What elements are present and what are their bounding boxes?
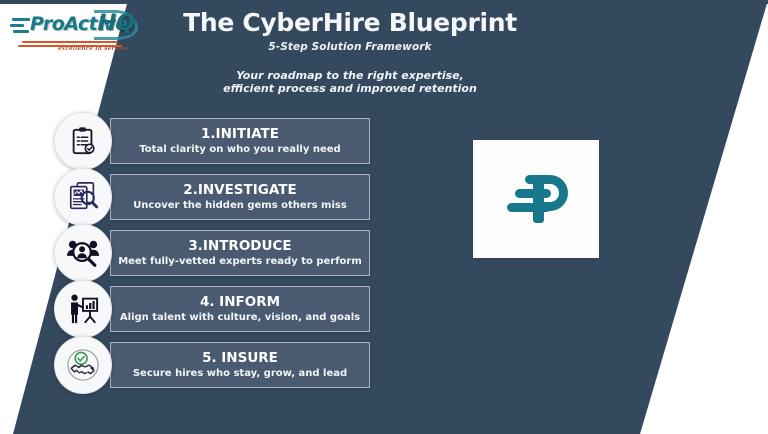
step-title: 5. INSURE [202,351,278,366]
step-card-initiate[interactable]: 1.INITIATE Total clarity on who you real… [110,118,370,164]
presenter-chart-icon [54,280,112,338]
logo-hq-mark: HQ [98,11,135,36]
tagline-line-2: efficient process and improved retention [135,83,565,96]
brand-logo-card [473,140,599,258]
proactive-hq-logo: ProActive HQ excellence in service [8,8,136,56]
step-item-inform[interactable]: 4. INFORM Align talent with culture, vis… [0,286,400,332]
step-description: Meet fully-vetted experts ready to perfo… [118,256,362,267]
steps-list: 1.INITIATE Total clarity on who you real… [0,118,400,398]
step-description: Secure hires who stay, grow, and lead [133,368,347,379]
step-item-insure[interactable]: 5. INSURE Secure hires who stay, grow, a… [0,342,400,388]
page-subtitle: 5-Step Solution Framework [135,41,565,53]
proactive-p-speed-mark [499,167,573,231]
document-magnifier-icon [54,168,112,226]
step-description: Align talent with culture, vision, and g… [120,312,360,323]
step-title: 4. INFORM [200,295,280,310]
step-title: 3.INTRODUCE [188,239,291,254]
logo-speed-bar-3 [13,30,29,33]
step-item-introduce[interactable]: 3.INTRODUCE Meet fully-vetted experts re… [0,230,400,276]
step-card-inform[interactable]: 4. INFORM Align talent with culture, vis… [110,286,370,332]
logo-speed-bar-1 [12,18,30,21]
logo-rule-top [22,41,118,43]
step-title: 2.INVESTIGATE [183,183,296,198]
logo-tagline: excellence in service [58,46,128,52]
step-item-investigate[interactable]: 2.INVESTIGATE Uncover the hidden gems ot… [0,174,400,220]
handshake-check-icon [54,336,112,394]
step-card-investigate[interactable]: 2.INVESTIGATE Uncover the hidden gems ot… [110,174,370,220]
page-tagline: Your roadmap to the right expertise, eff… [135,70,565,96]
step-title: 1.INITIATE [201,127,279,142]
people-search-icon [54,224,112,282]
step-description: Uncover the hidden gems others miss [133,200,347,211]
page-title: The CyberHire Blueprint [135,10,565,36]
step-card-introduce[interactable]: 3.INTRODUCE Meet fully-vetted experts re… [110,230,370,276]
step-card-insure[interactable]: 5. INSURE Secure hires who stay, grow, a… [110,342,370,388]
logo-speed-bar-2 [10,24,24,27]
clipboard-checklist-icon [54,112,112,170]
step-item-initiate[interactable]: 1.INITIATE Total clarity on who you real… [0,118,400,164]
header-block: The CyberHire Blueprint 5-Step Solution … [135,10,565,96]
step-description: Total clarity on who you really need [139,144,340,155]
